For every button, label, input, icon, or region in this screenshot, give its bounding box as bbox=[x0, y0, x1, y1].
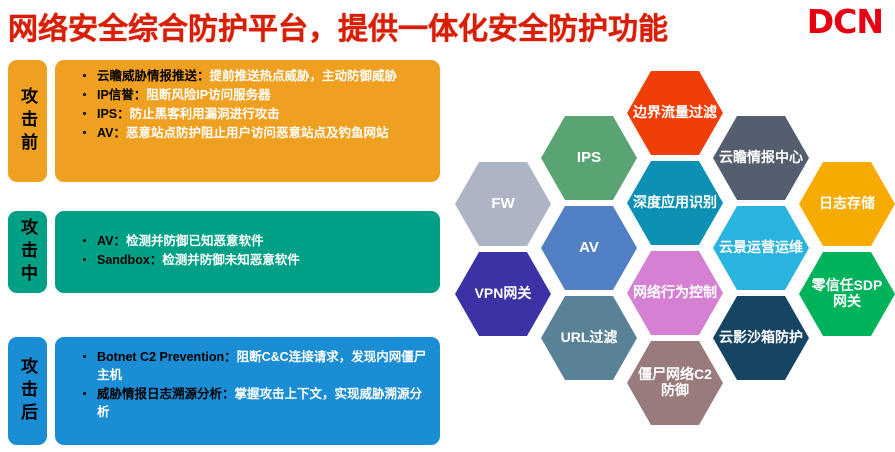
stage-tab-label: 攻击后 bbox=[19, 357, 36, 426]
hex-tile-label: 云影沙箱防护 bbox=[713, 330, 809, 346]
bullet-term: AV： bbox=[97, 234, 126, 248]
stage-content-3: Botnet C2 Prevention：阻断C&C连接请求，发现内网僵尸主机威… bbox=[55, 337, 440, 445]
stage-tab-3[interactable]: 攻击后 bbox=[8, 337, 47, 445]
hex-tile-10[interactable]: 云瞻情报中心 bbox=[713, 116, 809, 200]
hex-tile-label: 网络行为控制 bbox=[627, 285, 723, 301]
hex-tile-label: 云景运营运维 bbox=[713, 240, 809, 256]
hex-tile-5[interactable]: URL过滤 bbox=[541, 296, 637, 380]
bullet-description: 防止黑客利用漏洞进行攻击 bbox=[130, 107, 280, 121]
bullet-description: 检测并防御已知恶意软件 bbox=[126, 234, 264, 248]
stage-bullet-list: 云瞻威胁情报推送：提前推送热点威胁，主动防御威胁IP信誉：阻断风险IP访问服务器… bbox=[59, 67, 432, 143]
capability-hex-cluster: FWVPN网关IPSAVURL过滤边界流量过滤深度应用识别网络行为控制僵尸网络C… bbox=[455, 52, 895, 452]
attack-stage-3: 攻击后Botnet C2 Prevention：阻断C&C连接请求，发现内网僵尸… bbox=[8, 337, 440, 445]
hex-tile-label: 深度应用识别 bbox=[627, 195, 723, 211]
stage-content-1: 云瞻威胁情报推送：提前推送热点威胁，主动防御威胁IP信誉：阻断风险IP访问服务器… bbox=[55, 60, 440, 182]
bullet-term: 威胁情报日志溯源分析： bbox=[97, 387, 235, 401]
hex-tile-7[interactable]: 深度应用识别 bbox=[627, 161, 723, 245]
hex-tile-label: 日志存储 bbox=[813, 196, 881, 212]
hex-tile-14[interactable]: 零信任SDP网关 bbox=[799, 252, 895, 336]
hex-tile-label: FW bbox=[485, 196, 520, 213]
hex-tile-label: VPN网关 bbox=[469, 286, 538, 302]
bullet-description: 恶意站点防护阻止用户访问恶意站点及钓鱼网站 bbox=[126, 126, 389, 140]
hex-tile-label: URL过滤 bbox=[555, 330, 624, 346]
slide-header: 网络安全综合防护平台，提供一体化安全防护功能 DCN bbox=[0, 0, 895, 50]
hex-tile-label: 零信任SDP网关 bbox=[799, 278, 895, 309]
bullet-description: 阻断风险IP访问服务器 bbox=[146, 88, 270, 102]
stage-content-2: AV：检测并防御已知恶意软件Sandbox：检测并防御未知恶意软件 bbox=[55, 211, 440, 293]
hex-tile-1[interactable]: FW bbox=[455, 162, 551, 246]
attack-stage-2: 攻击中AV：检测并防御已知恶意软件Sandbox：检测并防御未知恶意软件 bbox=[8, 211, 440, 293]
bullet-term: IPS： bbox=[97, 107, 130, 121]
bullet-term: Botnet C2 Prevention： bbox=[97, 350, 237, 364]
hex-tile-label: 云瞻情报中心 bbox=[713, 150, 809, 166]
bullet-term: Sandbox： bbox=[97, 253, 162, 267]
bullet-term: IP信誉： bbox=[97, 88, 146, 102]
stage-tab-2[interactable]: 攻击中 bbox=[8, 211, 47, 293]
hex-tile-2[interactable]: VPN网关 bbox=[455, 252, 551, 336]
hex-tile-9[interactable]: 僵尸网络C2防御 bbox=[627, 341, 723, 425]
bullet-term: AV： bbox=[97, 126, 126, 140]
stage-bullet-list: AV：检测并防御已知恶意软件Sandbox：检测并防御未知恶意软件 bbox=[59, 218, 432, 269]
hex-tile-11[interactable]: 云景运营运维 bbox=[713, 206, 809, 290]
stage-tab-1[interactable]: 攻击前 bbox=[8, 60, 47, 182]
hex-tile-4[interactable]: AV bbox=[541, 206, 637, 290]
attack-stage-1: 攻击前云瞻威胁情报推送：提前推送热点威胁，主动防御威胁IP信誉：阻断风险IP访问… bbox=[8, 60, 440, 182]
hex-tile-label: 僵尸网络C2防御 bbox=[627, 367, 723, 398]
stage-bullet-item: AV：恶意站点防护阻止用户访问恶意站点及钓鱼网站 bbox=[81, 124, 432, 142]
hex-tile-label: AV bbox=[573, 240, 605, 257]
hex-tile-12[interactable]: 云影沙箱防护 bbox=[713, 296, 809, 380]
hex-tile-label: 边界流量过滤 bbox=[627, 105, 723, 121]
stage-bullet-item: IP信誉：阻断风险IP访问服务器 bbox=[81, 86, 432, 104]
page-title: 网络安全综合防护平台，提供一体化安全防护功能 bbox=[8, 4, 668, 48]
stage-bullet-item: 云瞻威胁情报推送：提前推送热点威胁，主动防御威胁 bbox=[81, 67, 432, 85]
hex-tile-3[interactable]: IPS bbox=[541, 116, 637, 200]
stage-bullet-list: Botnet C2 Prevention：阻断C&C连接请求，发现内网僵尸主机威… bbox=[59, 344, 432, 422]
stage-tab-label: 攻击前 bbox=[19, 87, 36, 156]
stage-tab-label: 攻击中 bbox=[19, 218, 36, 287]
dcn-logo: DCN bbox=[807, 2, 883, 41]
stage-bullet-item: 威胁情报日志溯源分析：掌握攻击上下文，实现威胁溯源分析 bbox=[81, 385, 432, 421]
stage-bullet-item: AV：检测并防御已知恶意软件 bbox=[81, 232, 432, 250]
hex-tile-8[interactable]: 网络行为控制 bbox=[627, 251, 723, 335]
hex-tile-13[interactable]: 日志存储 bbox=[799, 162, 895, 246]
stage-bullet-item: IPS：防止黑客利用漏洞进行攻击 bbox=[81, 105, 432, 123]
bullet-term: 云瞻威胁情报推送： bbox=[97, 69, 210, 83]
bullet-description: 检测并防御未知恶意软件 bbox=[162, 253, 300, 267]
bullet-description: 提前推送热点威胁，主动防御威胁 bbox=[210, 69, 398, 83]
stage-bullet-item: Botnet C2 Prevention：阻断C&C连接请求，发现内网僵尸主机 bbox=[81, 348, 432, 384]
hex-tile-label: IPS bbox=[571, 150, 607, 167]
slide-root: 网络安全综合防护平台，提供一体化安全防护功能 DCN 攻击前云瞻威胁情报推送：提… bbox=[0, 0, 895, 452]
hex-tile-6[interactable]: 边界流量过滤 bbox=[627, 71, 723, 155]
stage-bullet-item: Sandbox：检测并防御未知恶意软件 bbox=[81, 251, 432, 269]
